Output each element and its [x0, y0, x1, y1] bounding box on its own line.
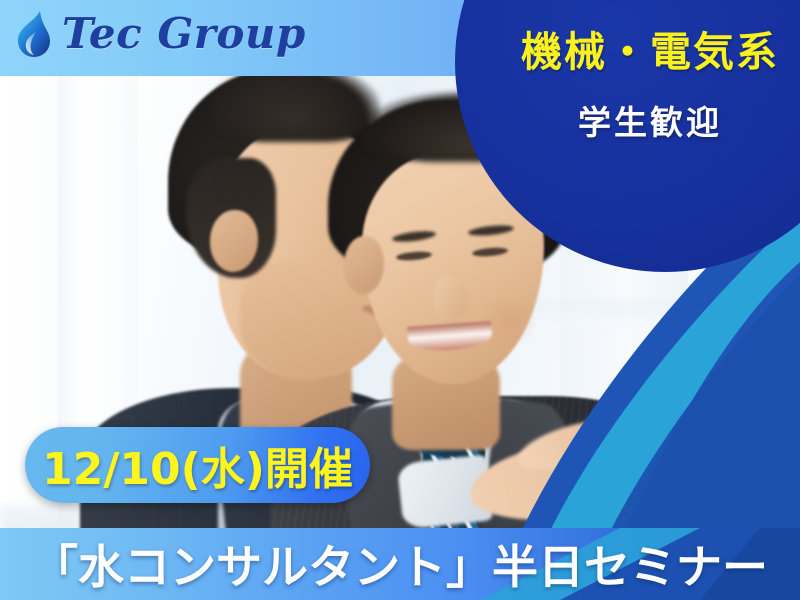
extended-open-hand [470, 425, 770, 545]
bottom-title-bar: 「水コンサルタント」半日セミナー [0, 528, 800, 600]
event-date-pill[interactable]: 12/10(水)開催 [25, 427, 370, 503]
fingers [619, 451, 752, 502]
badge-line-1: 機械・電気系 [485, 18, 800, 78]
logo-text-sub: Group [157, 9, 305, 58]
seminar-title: 「水コンサルタント」半日セミナー [0, 528, 800, 600]
logo-wordmark: Tec Group [62, 13, 306, 55]
logo-text-main: Tec [62, 9, 142, 58]
badge-line-2: 学生歓迎 [485, 96, 800, 144]
seminar-banner: Tec Group 機械・電気系 学生歓迎 12/10(水)開催 「水コンサルタ… [0, 0, 800, 600]
event-date-text: 12/10(水)開催 [42, 433, 353, 497]
water-droplet-icon [14, 8, 54, 60]
tec-group-logo[interactable]: Tec Group [14, 8, 306, 60]
